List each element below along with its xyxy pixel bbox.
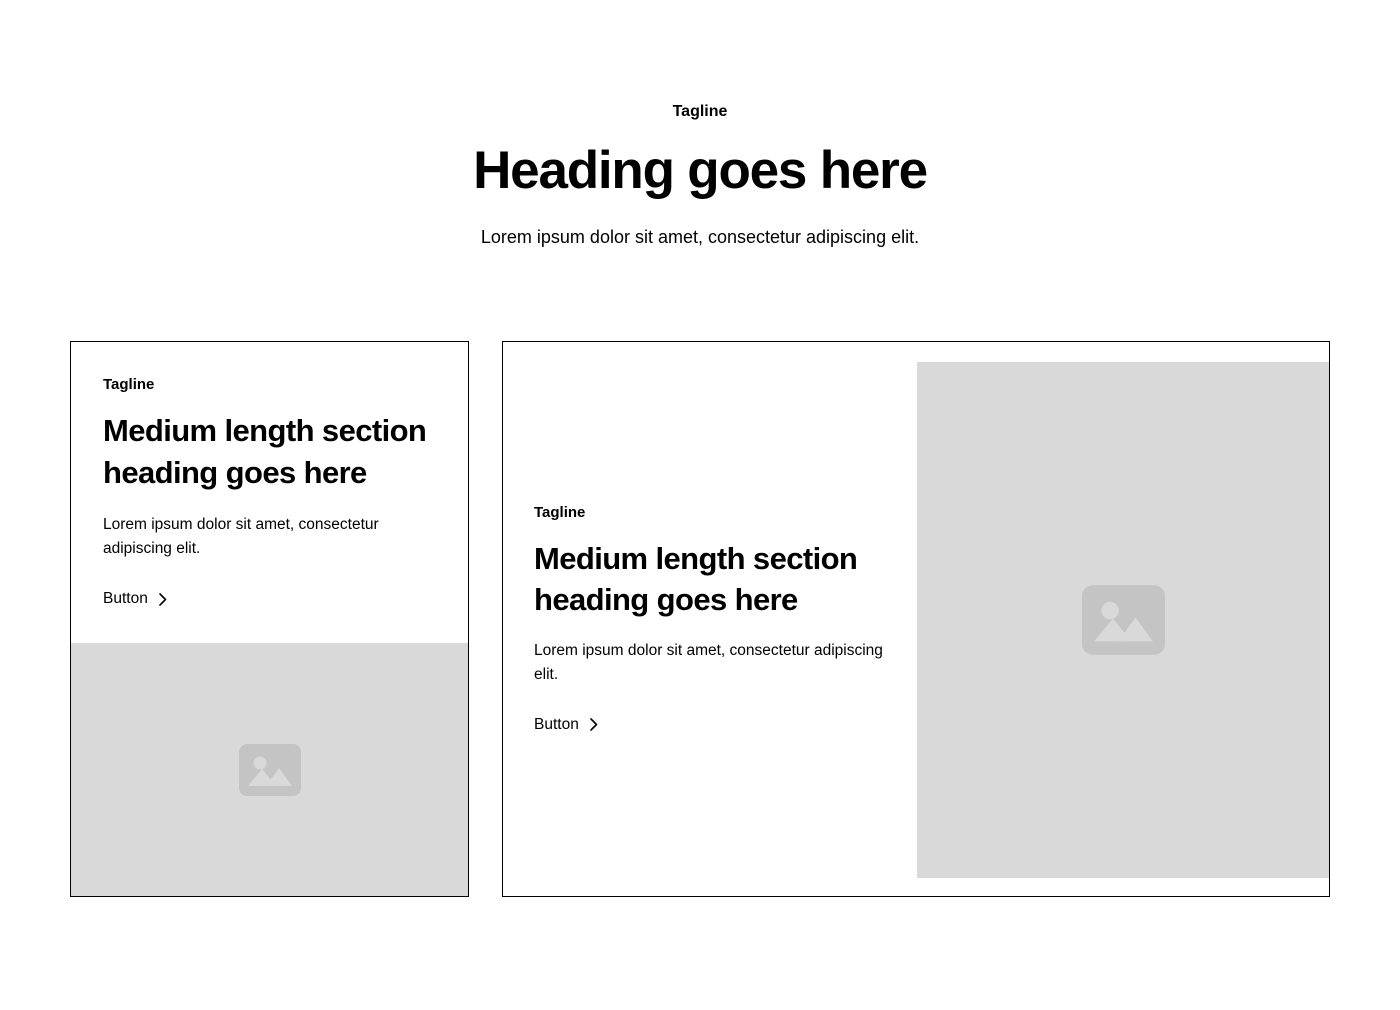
header-body-text: Lorem ipsum dolor sit amet, consectetur … (0, 224, 1400, 251)
page-header: Tagline Heading goes here Lorem ipsum do… (0, 100, 1400, 251)
chevron-right-icon (159, 593, 167, 606)
card-cta-label: Button (103, 587, 148, 611)
card-body-text: Lorem ipsum dolor sit amet, consectetur … (534, 639, 885, 687)
image-placeholder-icon (1082, 585, 1165, 655)
card-grid: Tagline Medium length section heading go… (70, 341, 1330, 897)
page-root: Tagline Heading goes here Lorem ipsum do… (0, 0, 1400, 1010)
card-cta-button[interactable]: Button (103, 587, 167, 611)
card-image-placeholder (917, 362, 1329, 878)
card-tagline: Tagline (534, 502, 885, 524)
feature-card-horizontal[interactable]: Tagline Medium length section heading go… (502, 341, 1330, 897)
card-heading: Medium length section heading goes here (534, 538, 885, 620)
card-text-block: Tagline Medium length section heading go… (71, 342, 468, 643)
card-text-block: Tagline Medium length section heading go… (503, 342, 917, 896)
card-heading: Medium length section heading goes here (103, 410, 436, 494)
chevron-right-icon (590, 718, 598, 731)
card-cta-label: Button (534, 713, 579, 737)
card-body-text: Lorem ipsum dolor sit amet, consectetur … (103, 513, 436, 561)
header-tagline: Tagline (0, 100, 1400, 124)
feature-card-vertical[interactable]: Tagline Medium length section heading go… (70, 341, 469, 897)
card-image-placeholder (71, 643, 468, 896)
card-tagline: Tagline (103, 374, 436, 396)
page-title: Heading goes here (0, 140, 1400, 202)
image-placeholder-icon (239, 744, 301, 796)
card-cta-button[interactable]: Button (534, 713, 598, 737)
